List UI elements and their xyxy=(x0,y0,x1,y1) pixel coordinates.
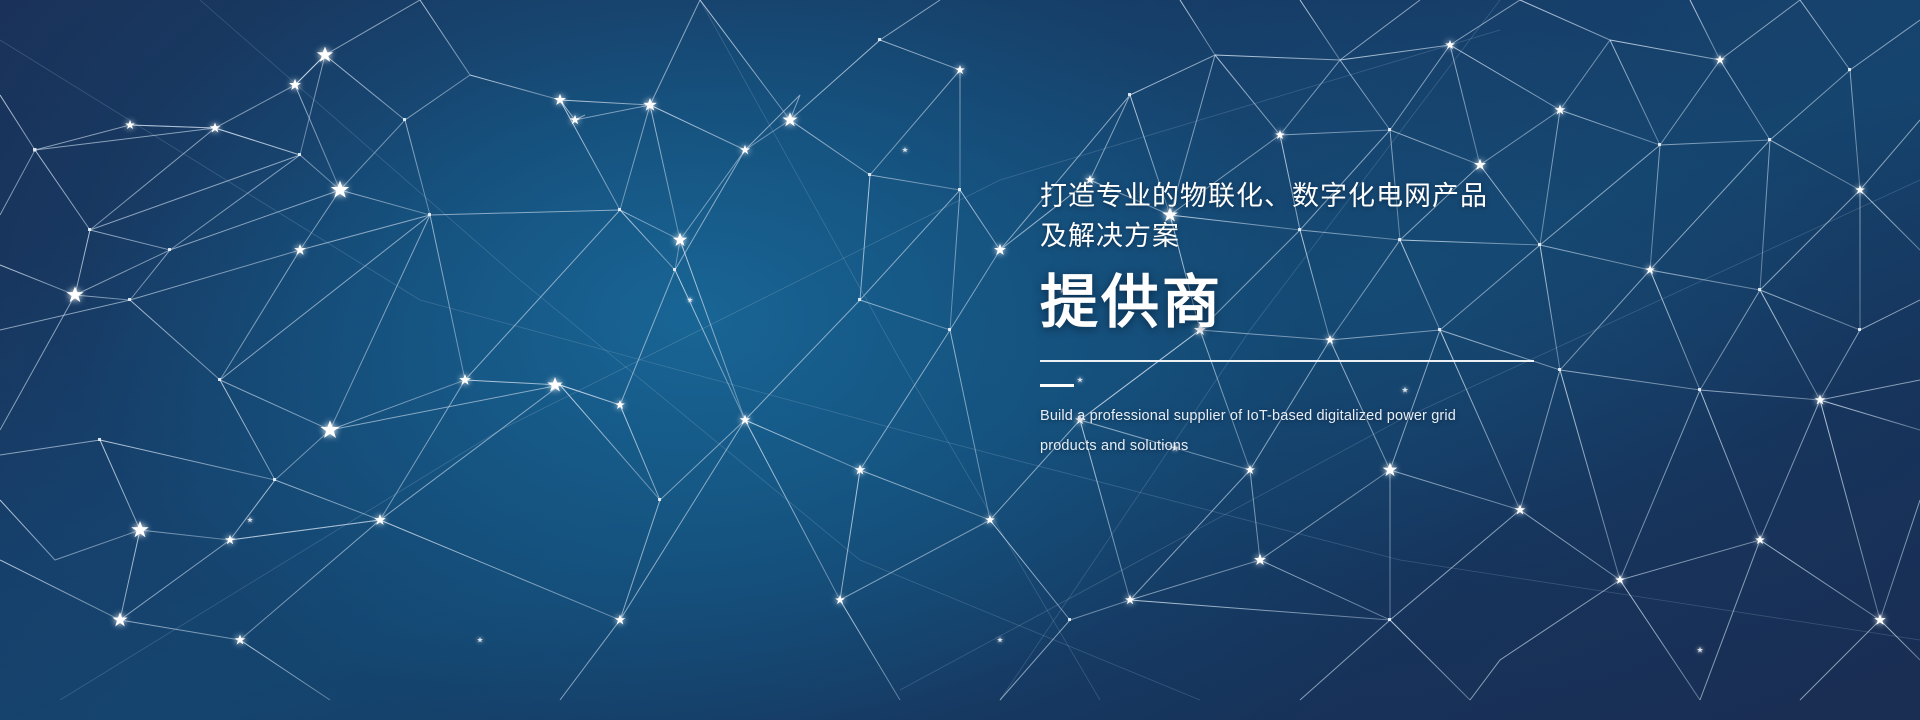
headline-line-1: 打造专业的物联化、数字化电网产品 xyxy=(1040,181,1488,211)
hero-headline: 打造专业的物联化、数字化电网产品 及解决方案 xyxy=(1040,176,1600,256)
hero-text-block: 打造专业的物联化、数字化电网产品 及解决方案 提供商 Build a profe… xyxy=(1040,176,1600,461)
subtitle-line-2: products and solutions xyxy=(1040,431,1600,461)
accent-dash xyxy=(1040,384,1074,387)
headline-line-2: 及解决方案 xyxy=(1040,216,1600,256)
polygon-network-background xyxy=(0,0,1920,720)
hero-emphasis-word: 提供商 xyxy=(1040,270,1600,336)
hero-banner: 打造专业的物联化、数字化电网产品 及解决方案 提供商 Build a profe… xyxy=(0,0,1920,720)
subtitle-line-1: Build a professional supplier of IoT-bas… xyxy=(1040,408,1456,424)
hero-subtitle: Build a professional supplier of IoT-bas… xyxy=(1040,401,1600,461)
horizontal-divider xyxy=(1040,360,1534,362)
